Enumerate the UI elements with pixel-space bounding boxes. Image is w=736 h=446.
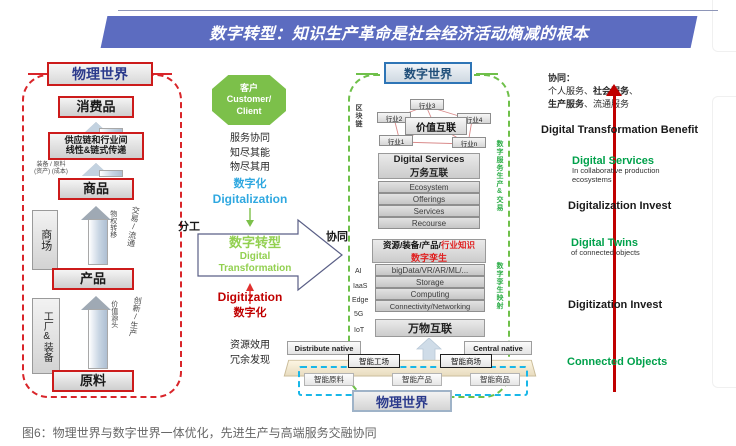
benefit-digitalization-invest-label: Digitalization Invest xyxy=(568,200,671,212)
service-synergy-text: 服务协同 知尽其能 物尽其用 xyxy=(208,132,292,176)
service-layer-recourse: Recourse xyxy=(378,217,480,229)
header-rule xyxy=(118,10,718,11)
node-supply-chain: 供应链和行业间 线性&链式传递 xyxy=(48,132,144,160)
tech-label-ai: AI xyxy=(355,268,362,275)
annotation-ownership-transfer: 物权转移 xyxy=(109,210,117,241)
service-synergy-line-0: 服务协同 xyxy=(230,132,270,147)
node-product: 产品 xyxy=(52,268,134,290)
physical-world-title: 物理世界 xyxy=(47,62,153,86)
digital-transformation-label: 数字转型 Digital Transformation xyxy=(196,225,314,285)
annotation-equip-material-line2: (资产) (成本) xyxy=(20,169,82,176)
resource-line-1: 冗余发现 xyxy=(230,353,270,368)
callout-distribute-native: Distribute native xyxy=(287,341,361,355)
digitalization-en: Digitalization xyxy=(213,192,288,207)
synergy-note: 协同： 个人服务、社会服务、 生产服务、流通服务 xyxy=(548,72,638,111)
digital-title-connector-right xyxy=(476,73,498,75)
figure-caption: 图6：物理世界与数字世界一体优化，先进生产与高端服务交融协同 xyxy=(22,424,377,441)
benefit-item-transformation: Digital Transformation Benefit xyxy=(541,124,698,136)
physical-title-connector-left xyxy=(28,73,48,75)
vertical-label-digital-service-production: 数字服务生产&交易 xyxy=(494,140,504,212)
customer-line-1: 客户 xyxy=(240,83,258,94)
digitalization-cn: 数字化 xyxy=(234,178,267,192)
service-layer-offerings: Offerings xyxy=(378,193,480,205)
customer-node: 客户 Customer/ Client xyxy=(212,75,286,125)
digital-twin-header: 资源/装备/产品/行业知识 数字孪生 xyxy=(372,239,486,263)
annotation-ownership-transfer-label: 物权转移 xyxy=(109,210,117,238)
arrow-shaft-to-supply-chain xyxy=(99,170,123,177)
supply-chain-line-2: 线性&链式传递 xyxy=(66,146,127,156)
tech-label-iaas: IaaS xyxy=(353,283,367,290)
benefit-item-digital-services: Digital Services In collaborative produc… xyxy=(572,155,660,184)
industry-node-n: 行业n xyxy=(452,137,486,148)
benefit-digital-services-sub-2: ecosystems xyxy=(572,176,660,185)
ghost-panel-bottom xyxy=(712,96,736,388)
synergy-note-title: 协同： xyxy=(548,72,638,85)
twin-cn: 数字孪生 xyxy=(411,251,447,264)
side-box-market-label: 商场 xyxy=(39,229,51,251)
benefit-digital-twins-sub: of connected objects xyxy=(571,249,640,258)
iot-header: 万物互联 xyxy=(375,319,485,337)
transformation-en1: Digital xyxy=(240,251,271,263)
arrow-head-product xyxy=(81,296,111,310)
value-interconnect-node: 价值互联 xyxy=(405,117,467,135)
benefit-item-digital-twins: Digital Twins of connected objects xyxy=(571,237,640,258)
service-layer-ecosystem: Ecosystem xyxy=(378,181,480,193)
resource-utility-text: 资源效用 冗余发现 xyxy=(208,338,292,368)
smart-object-raw-material: 智能原料 xyxy=(304,373,354,386)
digital-title-connector-left xyxy=(356,73,378,75)
arrow-shaft-commodity xyxy=(88,219,108,265)
benefit-item-connected-objects: Connected Objects xyxy=(567,356,667,368)
tech-label-5g: 5G xyxy=(354,311,363,318)
twin-prefix: 资源/装备/产品/ xyxy=(383,240,441,250)
tech-layer-computing: Computing xyxy=(375,288,485,300)
page-title: 数字转型：知识生产革命是社会经济活动熵减的根本 xyxy=(104,16,694,48)
benefit-item-digitalization-invest: Digitalization Invest xyxy=(568,200,671,212)
synergy-note-line-2: 生产服务、流通服务 xyxy=(548,98,638,111)
smart-object-product: 智能产品 xyxy=(392,373,442,386)
benefit-item-digitization-invest: Digitization Invest xyxy=(568,299,662,311)
transformation-en2: Transformation xyxy=(219,263,292,275)
customer-line-2: Customer/ xyxy=(227,94,272,105)
benefit-digitization-invest-label: Digitization Invest xyxy=(568,299,662,311)
digital-services-en: Digital Services xyxy=(394,154,465,165)
digitalization-label: 数字化 Digitalization xyxy=(200,178,300,207)
physical-title-connector-right xyxy=(152,73,172,75)
node-raw-material: 原料 xyxy=(52,370,134,392)
synergy-note-line-1: 个人服务、社会服务、 xyxy=(548,85,638,98)
digital-services-cn: 万务互联 xyxy=(410,165,448,179)
arrow-head-commodity xyxy=(81,206,111,220)
digital-services-header: Digital Services 万务互联 xyxy=(378,153,480,179)
digital-world-title: 数字世界 xyxy=(384,62,472,84)
smart-object-commodity: 智能商品 xyxy=(470,373,520,386)
synergy-line2-a: 生产服务 xyxy=(548,99,584,109)
service-synergy-line-2: 物尽其用 xyxy=(230,161,270,176)
resource-line-0: 资源效用 xyxy=(230,338,270,353)
transformation-cn: 数字转型 xyxy=(229,235,281,251)
physical-world-bottom-label: 物理世界 xyxy=(352,390,452,412)
service-layer-services: Services xyxy=(378,205,480,217)
node-consumer-goods: 消费品 xyxy=(58,96,134,118)
annotation-value-source: 价值源头 xyxy=(110,300,118,331)
figure-canvas: 数字转型：知识生产革命是社会经济活动熵减的根本 物理世界 消费品 供应链和行业间… xyxy=(0,0,736,446)
customer-line-3: Client xyxy=(236,106,261,117)
benefit-connected-objects-label: Connected Objects xyxy=(567,356,667,368)
side-box-factory-label: 工厂&装备 xyxy=(41,311,52,362)
label-synergy: 协同 xyxy=(326,228,348,244)
side-box-market: 商场 xyxy=(32,210,58,270)
label-division-of-labor: 分工 xyxy=(178,218,200,234)
digitization-en: Digitization xyxy=(218,290,283,306)
tech-label-iot: IoT xyxy=(354,327,364,334)
benefit-transformation-label: Digital Transformation Benefit xyxy=(541,124,698,136)
vertical-label-digital-twin-mapping: 数字孪生映射 xyxy=(494,262,504,310)
synergy-line1-a: 个人服务、 xyxy=(548,86,593,96)
industry-node-3: 行业3 xyxy=(410,99,444,110)
digitization-label: Digitization 数字化 xyxy=(196,290,304,320)
synergy-line1-c: 、 xyxy=(629,86,638,96)
side-box-factory: 工厂&装备 xyxy=(32,298,60,374)
tech-layer-storage: Storage xyxy=(375,276,485,288)
digitization-cn: 数字化 xyxy=(234,306,267,320)
ghost-panel-top xyxy=(712,0,736,52)
tech-layer-connectivity: Connectivity/Networking xyxy=(375,300,485,312)
smart-object-mall: 智能商场 xyxy=(440,354,492,368)
annotation-value-source-label: 价值源头 xyxy=(110,300,118,328)
annotation-equip-material-line1: 装备 / 原料 xyxy=(20,162,82,169)
arrow-shaft-product xyxy=(88,309,108,369)
blockchain-label: 区块链 xyxy=(353,104,363,128)
tech-label-edge: Edge xyxy=(352,297,368,304)
service-synergy-line-1: 知尽其能 xyxy=(230,147,270,162)
callout-central-native: Central native xyxy=(464,341,532,355)
industry-node-1: 行业1 xyxy=(379,135,413,146)
twin-highlight: 行业知识 xyxy=(441,240,475,250)
node-commodity: 商品 xyxy=(58,178,134,200)
annotation-equip-material: 装备 / 原料 (资产) (成本) xyxy=(20,162,82,175)
smart-object-factory: 智能工场 xyxy=(348,354,400,368)
tech-layer-bigdata: bigData/VR/AR/ML/... xyxy=(375,264,485,276)
synergy-line2-b: 、流通服务 xyxy=(584,99,629,109)
